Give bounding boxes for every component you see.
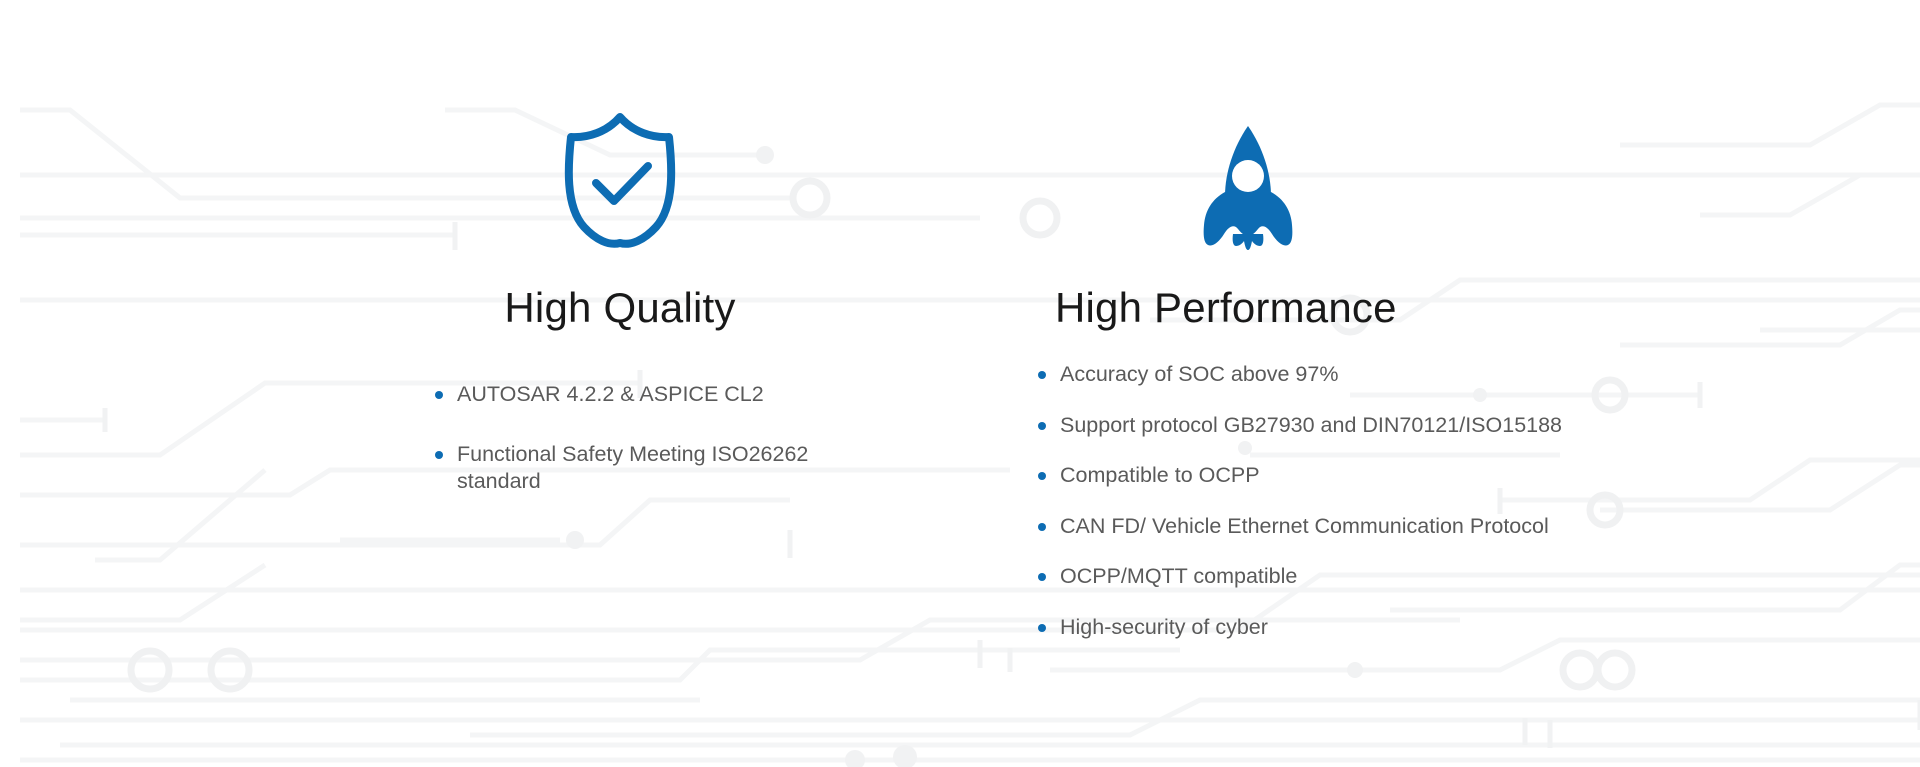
list-item: High-security of cyber <box>1038 614 1818 642</box>
high-quality-title: High Quality <box>300 285 940 331</box>
list-item-label: CAN FD/ Vehicle Ethernet Communication P… <box>1060 514 1549 538</box>
bullet-dot-icon <box>435 391 443 399</box>
rocket-icon <box>1200 110 1296 250</box>
list-item: Accuracy of SOC above 97% <box>1038 361 1818 389</box>
list-item: Functional Safety Meeting ISO26262 stand… <box>435 441 895 496</box>
bullet-dot-icon <box>1038 624 1046 632</box>
feature-highlights-page: High Quality AUTOSAR 4.2.2 & ASPICE CL2 … <box>0 0 1920 767</box>
list-item-label: Functional Safety Meeting ISO26262 stand… <box>457 442 808 494</box>
bullet-dot-icon <box>1038 422 1046 430</box>
bullet-dot-icon <box>1038 573 1046 581</box>
list-item-label: OCPP/MQTT compatible <box>1060 564 1297 588</box>
list-item-label: Compatible to OCPP <box>1060 463 1260 487</box>
list-item: CAN FD/ Vehicle Ethernet Communication P… <box>1038 513 1818 541</box>
high-quality-icon-container <box>300 110 940 285</box>
list-item: OCPP/MQTT compatible <box>1038 563 1818 591</box>
bullet-dot-icon <box>435 451 443 459</box>
high-performance-icon-container <box>1000 110 1820 285</box>
feature-card-high-quality: High Quality AUTOSAR 4.2.2 & ASPICE CL2 … <box>300 110 940 496</box>
high-performance-title: High Performance <box>1000 285 1820 331</box>
list-item: AUTOSAR 4.2.2 & ASPICE CL2 <box>435 381 895 409</box>
high-quality-bullet-list: AUTOSAR 4.2.2 & ASPICE CL2 Functional Sa… <box>435 381 895 496</box>
feature-card-high-performance: High Performance Accuracy of SOC above 9… <box>1000 110 1820 641</box>
bullet-dot-icon <box>1038 472 1046 480</box>
bullet-dot-icon <box>1038 523 1046 531</box>
feature-columns: High Quality AUTOSAR 4.2.2 & ASPICE CL2 … <box>0 0 1920 767</box>
list-item-label: High-security of cyber <box>1060 615 1268 639</box>
list-item-label: Support protocol GB27930 and DIN70121/IS… <box>1060 413 1562 437</box>
shield-check-icon <box>560 110 680 250</box>
list-item-label: Accuracy of SOC above 97% <box>1060 362 1338 386</box>
bullet-dot-icon <box>1038 371 1046 379</box>
list-item-label: AUTOSAR 4.2.2 & ASPICE CL2 <box>457 382 764 406</box>
high-performance-bullet-list: Accuracy of SOC above 97% Support protoc… <box>1038 361 1818 641</box>
list-item: Support protocol GB27930 and DIN70121/IS… <box>1038 412 1818 440</box>
list-item: Compatible to OCPP <box>1038 462 1818 490</box>
